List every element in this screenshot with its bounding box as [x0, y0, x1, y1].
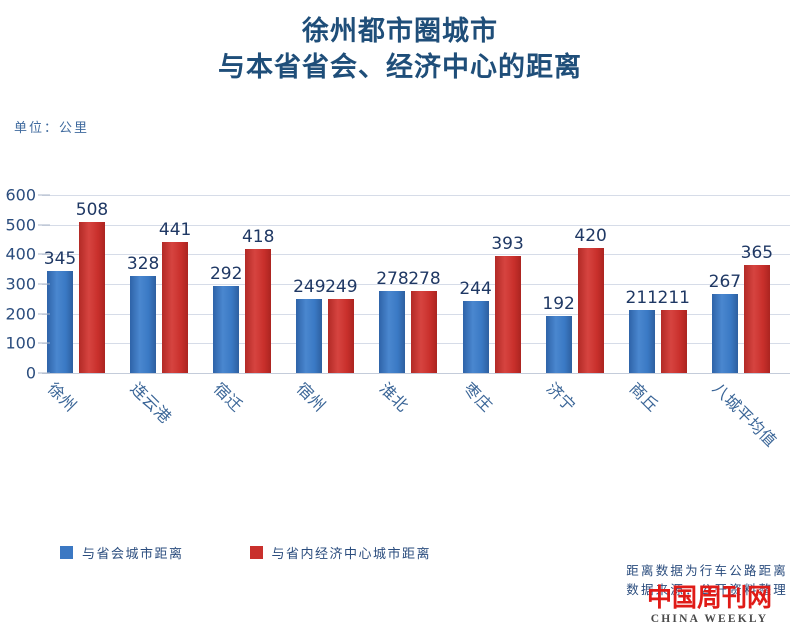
- chart-container: 徐州都市圈城市 与本省省会、经济中心的距离 单位：公里 010020030040…: [0, 0, 800, 635]
- footnote: 距离数据为行车公路距离 数据来源：公开资料整理: [626, 561, 788, 600]
- bar-value-label: 393: [491, 234, 523, 254]
- y-axis-tick-label: 100: [5, 334, 36, 353]
- chart-legend: 与省会城市距离与省内经济中心城市距离: [60, 543, 497, 562]
- bar[interactable]: 328: [130, 276, 156, 373]
- bar[interactable]: 192: [546, 316, 572, 373]
- legend-swatch: [250, 546, 263, 559]
- y-axis-tick-mark: [38, 284, 50, 285]
- bar-value-label: 249: [325, 277, 357, 297]
- x-axis-labels: 徐州连云港宿迁宿州淮北枣庄济宁商丘八城平均值: [42, 376, 790, 466]
- gridline: [42, 373, 790, 374]
- x-axis-tick-label: 济宁: [542, 376, 582, 416]
- y-axis-tick-mark: [38, 343, 50, 344]
- bar-value-label: 249: [293, 277, 325, 297]
- bar-value-label: 292: [210, 264, 242, 284]
- chart-title-line-1: 徐州都市圈城市: [0, 14, 800, 48]
- bar-value-label: 508: [76, 200, 108, 220]
- bar-value-label: 278: [408, 269, 440, 289]
- y-axis-labels: 0100200300400500600: [0, 195, 36, 373]
- y-axis-tick-label: 0: [26, 364, 36, 383]
- bar[interactable]: 292: [213, 286, 239, 373]
- bar-value-label: 418: [242, 227, 274, 247]
- watermark-english: CHINA WEEKLY: [647, 613, 772, 625]
- bar[interactable]: 508: [79, 222, 105, 373]
- y-axis-tick-mark: [38, 313, 50, 314]
- unit-caption: 单位：公里: [14, 117, 89, 136]
- x-axis-tick-label: 淮北: [375, 376, 415, 416]
- bar-value-label: 192: [542, 294, 574, 314]
- bar[interactable]: 267: [712, 294, 738, 373]
- bar[interactable]: 278: [379, 291, 405, 373]
- bar-group: 328441: [125, 195, 208, 373]
- legend-swatch: [60, 546, 73, 559]
- x-axis-tick-label: 八城平均值: [708, 376, 783, 451]
- y-axis-tick-label: 200: [5, 304, 36, 323]
- y-axis-tick-label: 400: [5, 245, 36, 264]
- bar-value-label: 420: [574, 226, 606, 246]
- footnote-line-2: 数据来源：公开资料整理: [626, 580, 788, 599]
- bar-value-label: 278: [376, 269, 408, 289]
- bar[interactable]: 365: [744, 265, 770, 373]
- chart-title-line-2: 与本省省会、经济中心的距离: [0, 50, 800, 84]
- bar[interactable]: 420: [578, 248, 604, 373]
- legend-item[interactable]: 与省会城市距离: [60, 543, 184, 562]
- bar-group: 278278: [374, 195, 457, 373]
- bar-value-label: 328: [127, 254, 159, 274]
- bar-value-label: 267: [709, 272, 741, 292]
- bar[interactable]: 418: [245, 249, 271, 373]
- legend-label: 与省会城市距离: [82, 543, 184, 562]
- bar[interactable]: 249: [296, 299, 322, 373]
- y-axis-tick-mark: [38, 195, 50, 196]
- y-axis-tick-label: 300: [5, 275, 36, 294]
- y-axis-tick-mark: [38, 224, 50, 225]
- bar[interactable]: 393: [495, 256, 521, 373]
- legend-label: 与省内经济中心城市距离: [272, 543, 432, 562]
- bar-group: 211211: [624, 195, 707, 373]
- bar[interactable]: 244: [463, 301, 489, 373]
- y-axis-tick-label: 500: [5, 215, 36, 234]
- bar-group: 345508: [42, 195, 125, 373]
- x-axis-tick-label: 连云港: [126, 376, 178, 428]
- x-axis-tick-label: 徐州: [43, 376, 83, 416]
- bar-value-label: 441: [159, 220, 191, 240]
- bar[interactable]: 441: [162, 242, 188, 373]
- bar-group: 267365: [707, 195, 790, 373]
- bar-value-label: 211: [658, 288, 690, 308]
- bar[interactable]: 249: [328, 299, 354, 373]
- bar[interactable]: 345: [47, 271, 73, 373]
- bar-group: 244393: [458, 195, 541, 373]
- y-axis-tick-mark: [38, 254, 50, 255]
- bar[interactable]: 211: [661, 310, 687, 373]
- bar-value-label: 244: [459, 279, 491, 299]
- bar-group: 249249: [291, 195, 374, 373]
- footnote-line-1: 距离数据为行车公路距离: [626, 561, 788, 580]
- bar-group: 192420: [541, 195, 624, 373]
- bar-value-label: 365: [741, 243, 773, 263]
- x-axis-tick-label: 宿州: [292, 376, 332, 416]
- y-axis-tick-label: 600: [5, 186, 36, 205]
- legend-item[interactable]: 与省内经济中心城市距离: [250, 543, 432, 562]
- x-axis-tick-label: 枣庄: [459, 376, 499, 416]
- bar-value-label: 345: [44, 249, 76, 269]
- x-axis-tick-label: 商丘: [625, 376, 665, 416]
- bar-value-label: 211: [626, 288, 658, 308]
- y-axis-tick-mark: [38, 373, 50, 374]
- bar-group: 292418: [208, 195, 291, 373]
- x-axis-tick-label: 宿迁: [209, 376, 249, 416]
- bar[interactable]: 211: [629, 310, 655, 373]
- plot-area: 3455083284412924182492492782782443931924…: [42, 195, 790, 373]
- bar[interactable]: 278: [411, 291, 437, 373]
- chart-title: 徐州都市圈城市 与本省省会、经济中心的距离: [0, 14, 800, 84]
